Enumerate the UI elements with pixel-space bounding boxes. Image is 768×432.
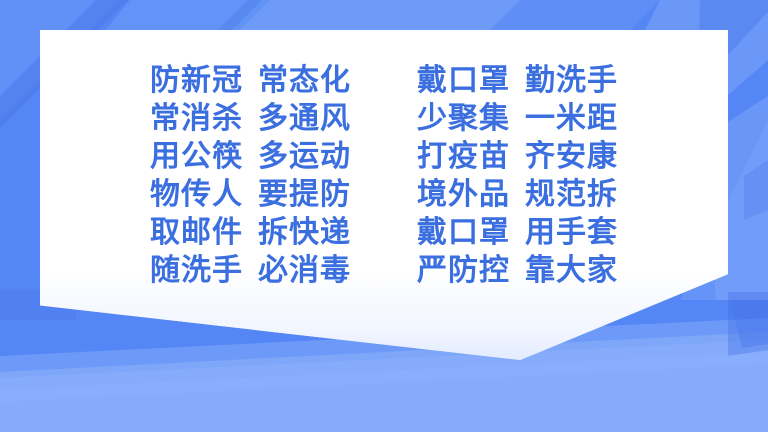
slogan-row: 随洗手 必消毒 [150, 252, 351, 290]
slogan-row: 少聚集 一米距 [417, 100, 618, 138]
slogan-phrase-a: 防新冠 [150, 62, 243, 100]
slogan-row: 戴口罩 勤洗手 [417, 62, 618, 100]
slogan-phrase-b: 靠大家 [525, 252, 618, 290]
slogan-phrase-b: 一米距 [525, 100, 618, 138]
slogan-row: 防新冠 常态化 [150, 62, 351, 100]
slogan-row: 常消杀 多通风 [150, 100, 351, 138]
slogan-row: 物传人 要提防 [150, 176, 351, 214]
slogan-row: 严防控 靠大家 [417, 252, 618, 290]
slogan-row: 用公筷 多运动 [150, 138, 351, 176]
slogan-row: 取邮件 拆快递 [150, 214, 351, 252]
diagonal-line-right [744, 160, 768, 220]
slogan-phrase-b: 多运动 [258, 138, 351, 176]
slogan-phrase-b: 多通风 [258, 100, 351, 138]
slogan-phrase-a: 打疫苗 [417, 138, 510, 176]
band-bottom-primary [0, 332, 768, 432]
slogan-phrase-a: 戴口罩 [417, 62, 510, 100]
slogan-column-left: 防新冠 常态化 常消杀 多通风 用公筷 多运动 物传人 要提防 取邮件 [150, 62, 351, 290]
slogan-phrase-b: 拆快递 [258, 214, 351, 252]
slogan-phrase-b: 勤洗手 [525, 62, 618, 100]
slogan-phrase-b: 齐安康 [525, 138, 618, 176]
slogan-grid: 防新冠 常态化 常消杀 多通风 用公筷 多运动 物传人 要提防 取邮件 [40, 30, 728, 330]
slogan-phrase-b: 要提防 [258, 176, 351, 214]
slogan-phrase-a: 常消杀 [150, 100, 243, 138]
slogan-row: 打疫苗 齐安康 [417, 138, 618, 176]
slogan-phrase-a: 戴口罩 [417, 214, 510, 252]
slogan-phrase-a: 物传人 [150, 176, 243, 214]
slogan-phrase-b: 常态化 [258, 62, 351, 100]
slogan-phrase-a: 取邮件 [150, 214, 243, 252]
slogan-phrase-a: 随洗手 [150, 252, 243, 290]
slogan-phrase-a: 少聚集 [417, 100, 510, 138]
slogan-phrase-a: 境外品 [417, 176, 510, 214]
slogan-phrase-b: 用手套 [525, 214, 618, 252]
block-bottom-right [728, 292, 768, 356]
slogan-phrase-a: 严防控 [417, 252, 510, 290]
band-bottom-tertiary [0, 352, 768, 402]
slogan-row: 戴口罩 用手套 [417, 214, 618, 252]
slogan-row: 境外品 规范拆 [417, 176, 618, 214]
slogan-phrase-a: 用公筷 [150, 138, 243, 176]
block-bottom-right-inner [730, 300, 768, 348]
slogan-phrase-b: 必消毒 [258, 252, 351, 290]
poster-canvas: 防新冠 常态化 常消杀 多通风 用公筷 多运动 物传人 要提防 取邮件 [0, 0, 768, 432]
slogan-column-right: 戴口罩 勤洗手 少聚集 一米距 打疫苗 齐安康 境外品 规范拆 戴口罩 [417, 62, 618, 290]
slogan-phrase-b: 规范拆 [525, 176, 618, 214]
